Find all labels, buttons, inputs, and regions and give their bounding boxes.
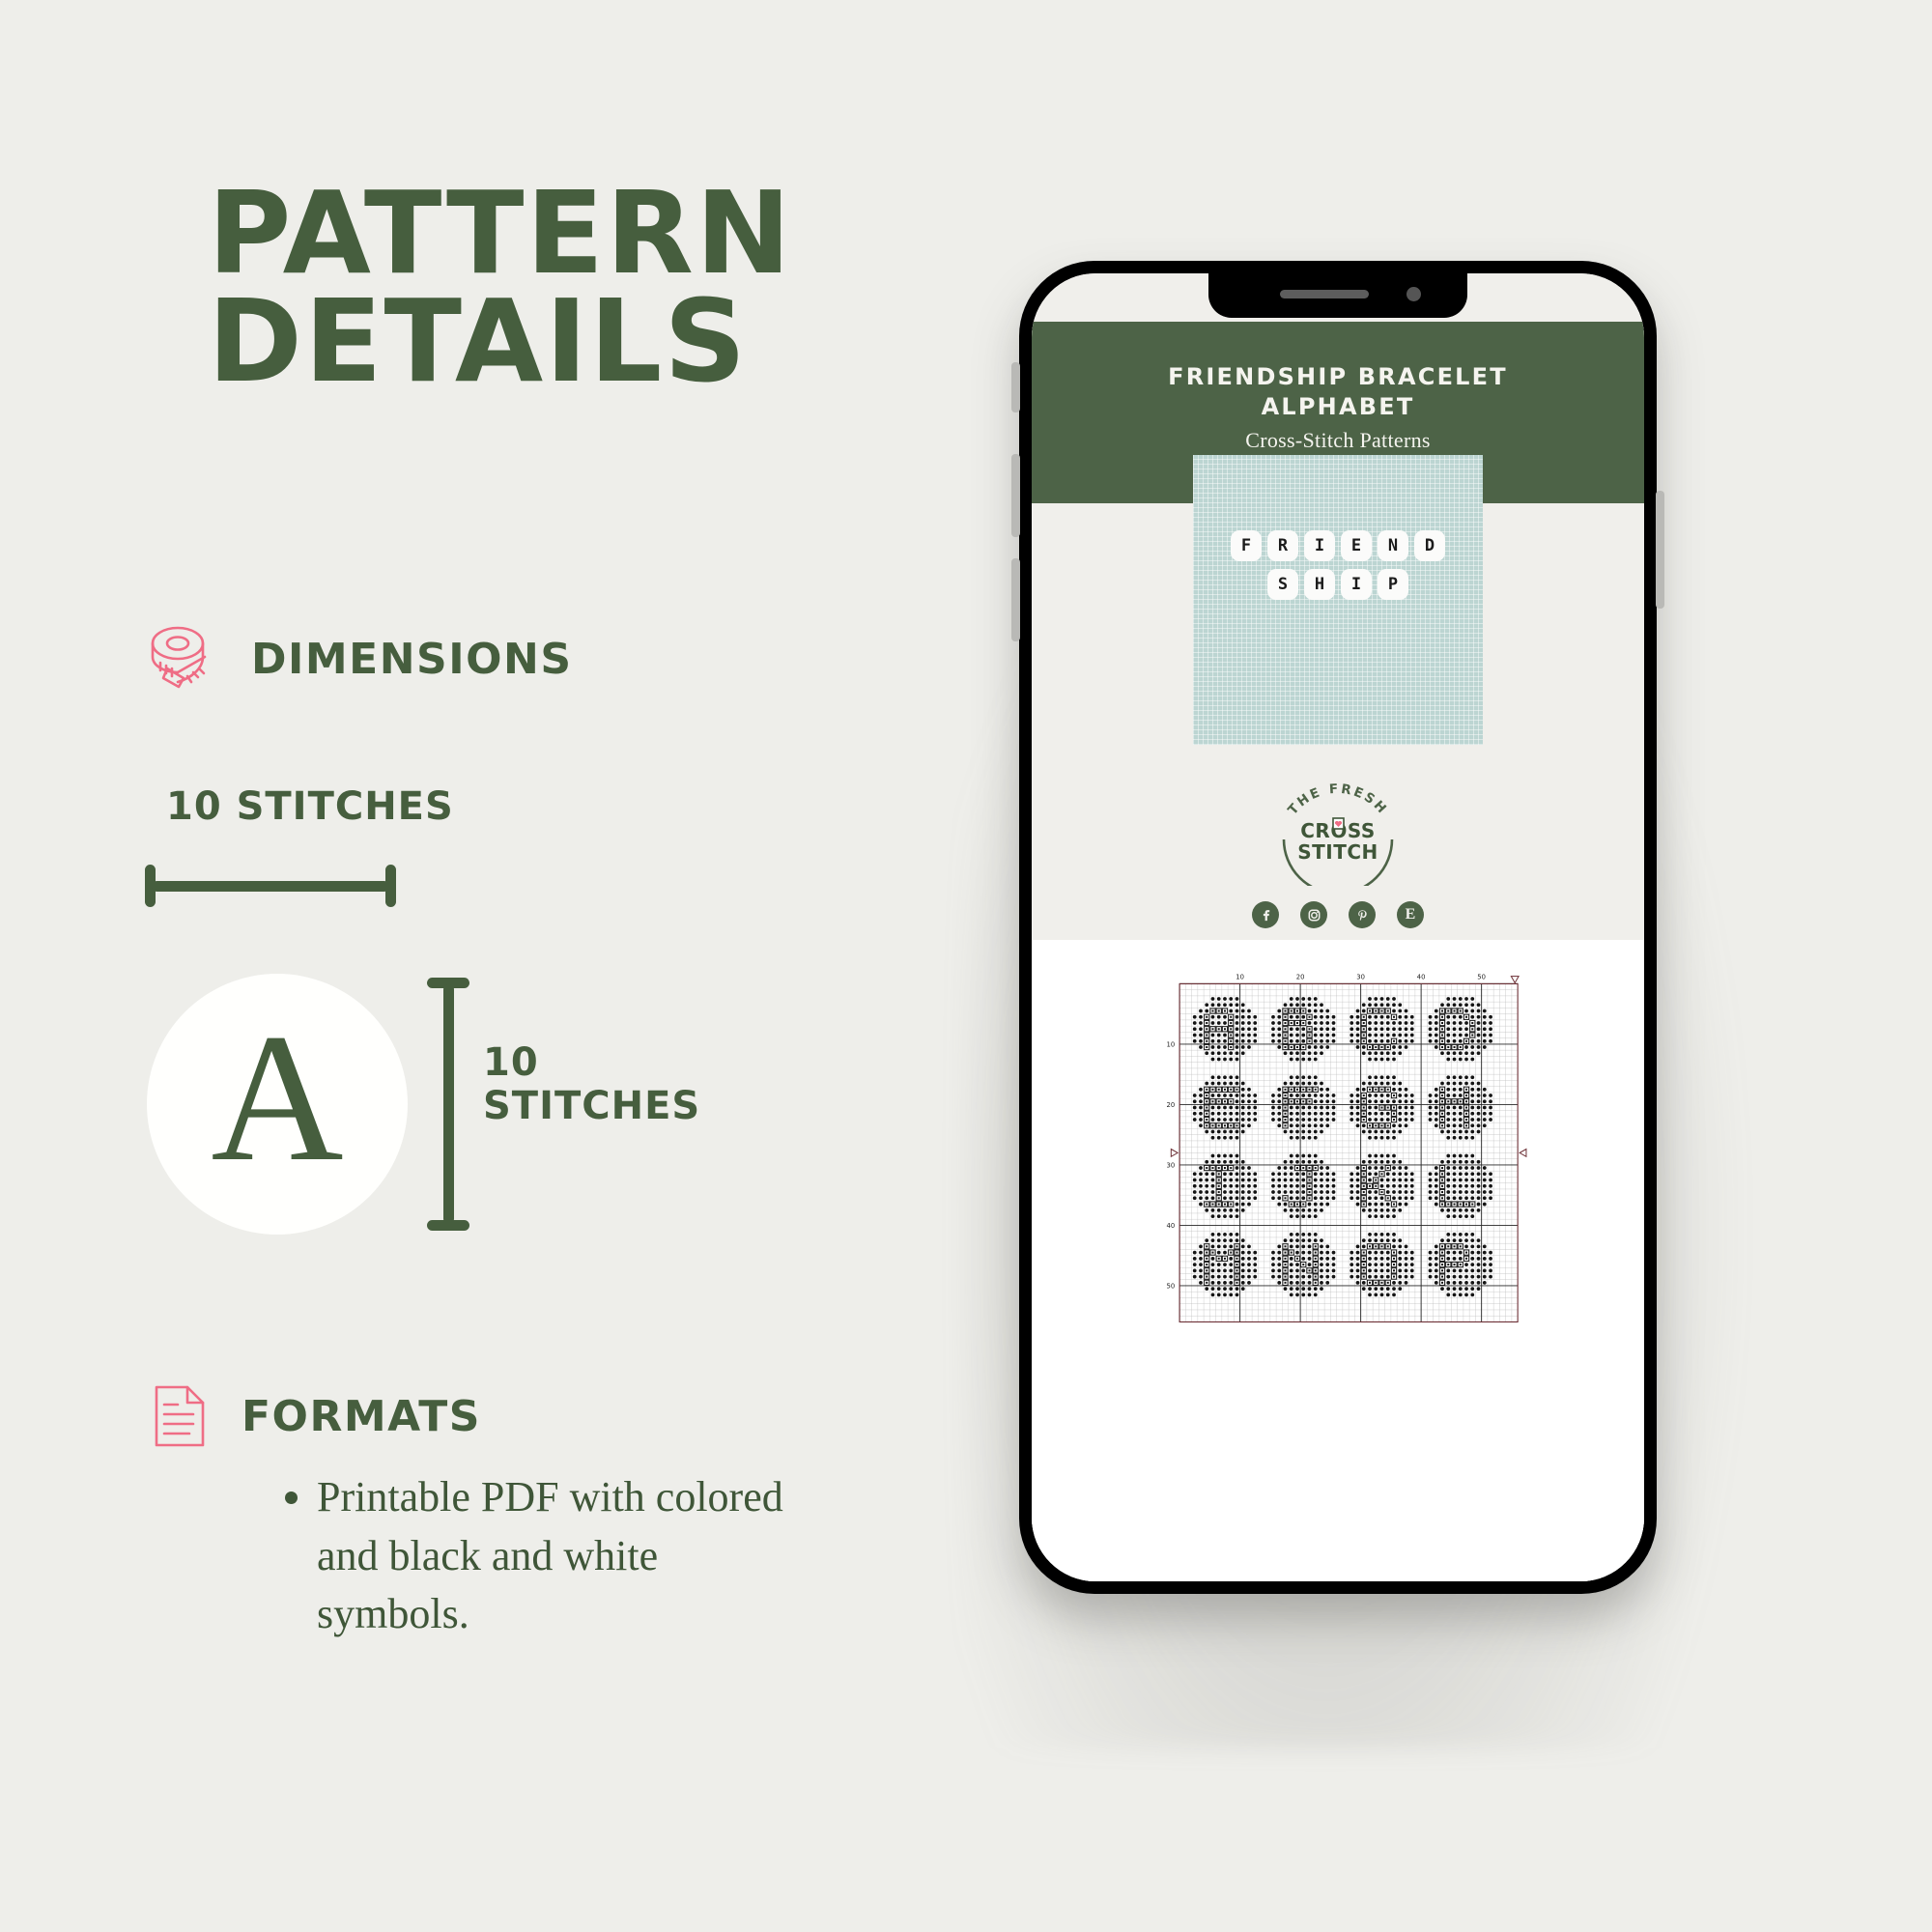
bead: R	[1267, 530, 1298, 561]
bead: E	[1341, 530, 1372, 561]
etsy-icon[interactable]: E	[1397, 901, 1424, 928]
horizontal-measure-bar	[145, 865, 396, 907]
height-stitches-label: 10 STITCHES	[483, 1041, 700, 1128]
phone-volume-down-button[interactable]	[1011, 558, 1020, 641]
earpiece-speaker	[1280, 290, 1369, 298]
page-title-line2: DETAILS	[208, 287, 826, 395]
bead-letters: F R I E N D S H I	[1193, 530, 1483, 608]
phone-screen[interactable]: FRIENDSHIP BRACELET ALPHABET Cross-Stitc…	[1032, 273, 1644, 1581]
svg-text:THE FRESH: THE FRESH	[1285, 781, 1390, 818]
bead: I	[1341, 569, 1372, 600]
svg-text:30: 30	[1356, 974, 1365, 981]
phone-screen-frame: FRIENDSHIP BRACELET ALPHABET Cross-Stitc…	[1032, 273, 1644, 1581]
sample-letter: A	[211, 1007, 343, 1190]
left-info-column: PATTERN DETAILS DIMENSIONS 10 STITCHES	[0, 0, 869, 1932]
formats-section-heading: FORMATS	[145, 1381, 481, 1451]
pinterest-icon[interactable]	[1349, 901, 1376, 928]
bead: F	[1231, 530, 1262, 561]
poster-canvas: PATTERN DETAILS DIMENSIONS 10 STITCHES	[0, 0, 1932, 1932]
pattern-chart-card[interactable]: 10203040501020304050	[1032, 940, 1644, 1581]
bead: I	[1304, 530, 1335, 561]
formats-heading-label: FORMATS	[241, 1392, 481, 1441]
phone-notch	[1208, 273, 1467, 318]
phone-mockup: FRIENDSHIP BRACELET ALPHABET Cross-Stitc…	[1019, 261, 1695, 1633]
sample-letter-badge: A	[147, 974, 408, 1235]
measuring-tape-icon	[143, 618, 224, 699]
brand-logo: THE FRESH CROSS STITCH	[1266, 778, 1409, 886]
cover-subtitle: Cross-Stitch Patterns	[1032, 428, 1644, 453]
dimensions-heading-label: DIMENSIONS	[251, 635, 573, 684]
svg-text:20: 20	[1296, 974, 1305, 981]
cover-title-line1: FRIENDSHIP BRACELET	[1168, 363, 1508, 390]
measure-stem-vertical	[443, 984, 454, 1224]
front-camera-icon	[1406, 287, 1421, 301]
svg-text:30: 30	[1167, 1161, 1176, 1169]
phone-volume-up-button[interactable]	[1011, 454, 1020, 537]
measure-stem	[152, 881, 389, 892]
bead: S	[1267, 569, 1298, 600]
dimensions-section-heading: DIMENSIONS	[143, 618, 573, 699]
width-stitches-label: 10 STITCHES	[166, 784, 454, 829]
pattern-chart: 10203040501020304050	[1066, 959, 1625, 1581]
phone-mute-switch[interactable]	[1011, 362, 1020, 412]
social-links: E	[1032, 901, 1644, 928]
svg-text:50: 50	[1167, 1282, 1176, 1290]
bead: H	[1304, 569, 1335, 600]
bead: P	[1378, 569, 1408, 600]
etsy-icon-label: E	[1406, 907, 1416, 923]
logo-line2: STITCH	[1297, 840, 1378, 864]
cover-title: FRIENDSHIP BRACELET ALPHABET	[1032, 362, 1644, 421]
cover-title-line2: ALPHABET	[1262, 393, 1415, 420]
height-stitches-unit: STITCHES	[483, 1085, 700, 1128]
list-item: Printable PDF with colored and black and…	[317, 1468, 802, 1644]
svg-text:10: 10	[1236, 974, 1244, 981]
svg-text:10: 10	[1167, 1040, 1176, 1048]
svg-text:50: 50	[1477, 974, 1486, 981]
bead-row: F R I E N D	[1193, 530, 1483, 561]
vertical-measure-bar	[427, 978, 469, 1231]
bead-row: S H I P	[1193, 569, 1483, 600]
measure-cap-bottom	[427, 1220, 469, 1231]
svg-text:20: 20	[1167, 1101, 1176, 1109]
phone-power-button[interactable]	[1656, 491, 1664, 609]
bead: N	[1378, 530, 1408, 561]
fabric-swatch: F R I E N D S H I	[1193, 455, 1483, 745]
bead: D	[1414, 530, 1445, 561]
facebook-icon[interactable]	[1252, 901, 1279, 928]
document-icon	[145, 1381, 214, 1451]
height-stitches-number: 10	[483, 1041, 700, 1085]
formats-bullet-list: Printable PDF with colored and black and…	[280, 1468, 802, 1644]
phone-body: FRIENDSHIP BRACELET ALPHABET Cross-Stitc…	[1019, 261, 1657, 1594]
measure-cap-right	[385, 865, 396, 907]
listing-cover-card: FRIENDSHIP BRACELET ALPHABET Cross-Stitc…	[1032, 322, 1644, 921]
page-title: PATTERN DETAILS	[208, 179, 826, 395]
svg-text:40: 40	[1167, 1222, 1176, 1230]
logo-arc-text: THE FRESH	[1285, 781, 1390, 818]
cross-stitch-chart-svg: 10203040501020304050	[1066, 959, 1625, 1365]
svg-text:40: 40	[1417, 974, 1426, 981]
logo-heart-mark	[1333, 818, 1344, 829]
instagram-icon[interactable]	[1300, 901, 1327, 928]
